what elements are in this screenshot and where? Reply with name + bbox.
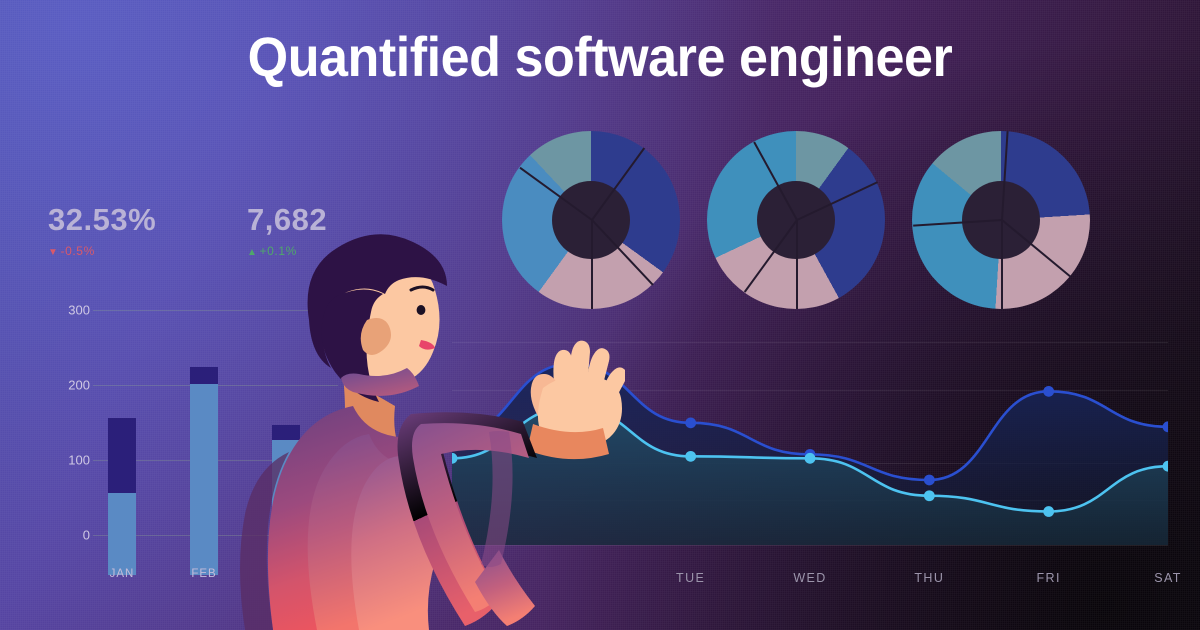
bar-segment-base (190, 384, 218, 575)
area-chart-data-point (1043, 506, 1054, 517)
percent-kpi: 32.53% ▼-0.5% (48, 204, 156, 258)
donut-slice-divider (796, 220, 798, 309)
area-chart-data-point (924, 490, 935, 501)
bar-chart-x-tick: JAN (110, 568, 135, 580)
bar-chart-y-tick: 100 (42, 453, 90, 468)
area-chart-x-tick: TUE (676, 571, 705, 585)
area-chart-x-tick: WED (793, 571, 826, 585)
area-chart-data-point (685, 451, 696, 462)
arrow-down-icon: ▼ (48, 247, 59, 258)
area-chart-x-tick: THU (914, 571, 944, 585)
area-chart-data-point (924, 475, 935, 486)
area-chart-data-point (685, 417, 696, 428)
raised-hand (527, 341, 625, 460)
percent-kpi-delta-value: -0.5% (61, 244, 95, 258)
bar-chart-y-tick: 0 (42, 528, 90, 543)
percent-kpi-delta: ▼-0.5% (48, 244, 156, 258)
percent-kpi-value: 32.53% (48, 204, 156, 235)
bar-segment-top (108, 418, 136, 493)
donut-chart-2 (707, 131, 885, 309)
bar-segment-base (108, 493, 136, 576)
area-chart-data-point (1043, 386, 1054, 397)
engineer-waving-illustration (225, 228, 625, 630)
bar-chart-bar (108, 350, 136, 575)
bar-chart-x-tick: FEB (191, 568, 216, 580)
area-chart-x-tick: FRI (1036, 571, 1060, 585)
area-chart-data-point (805, 453, 816, 464)
bar-chart-y-tick: 300 (42, 303, 90, 318)
donut-chart-3 (912, 131, 1090, 309)
bar-chart-bar (190, 350, 218, 575)
area-chart-x-tick: SAT (1154, 571, 1182, 585)
page-title: Quantified software engineer (42, 24, 1158, 89)
bar-segment-top (190, 367, 218, 384)
poster-canvas: Quantified software engineer 32.53% ▼-0.… (0, 0, 1200, 630)
donut-slice-divider (1001, 220, 1003, 309)
bar-chart-y-tick: 200 (42, 378, 90, 393)
